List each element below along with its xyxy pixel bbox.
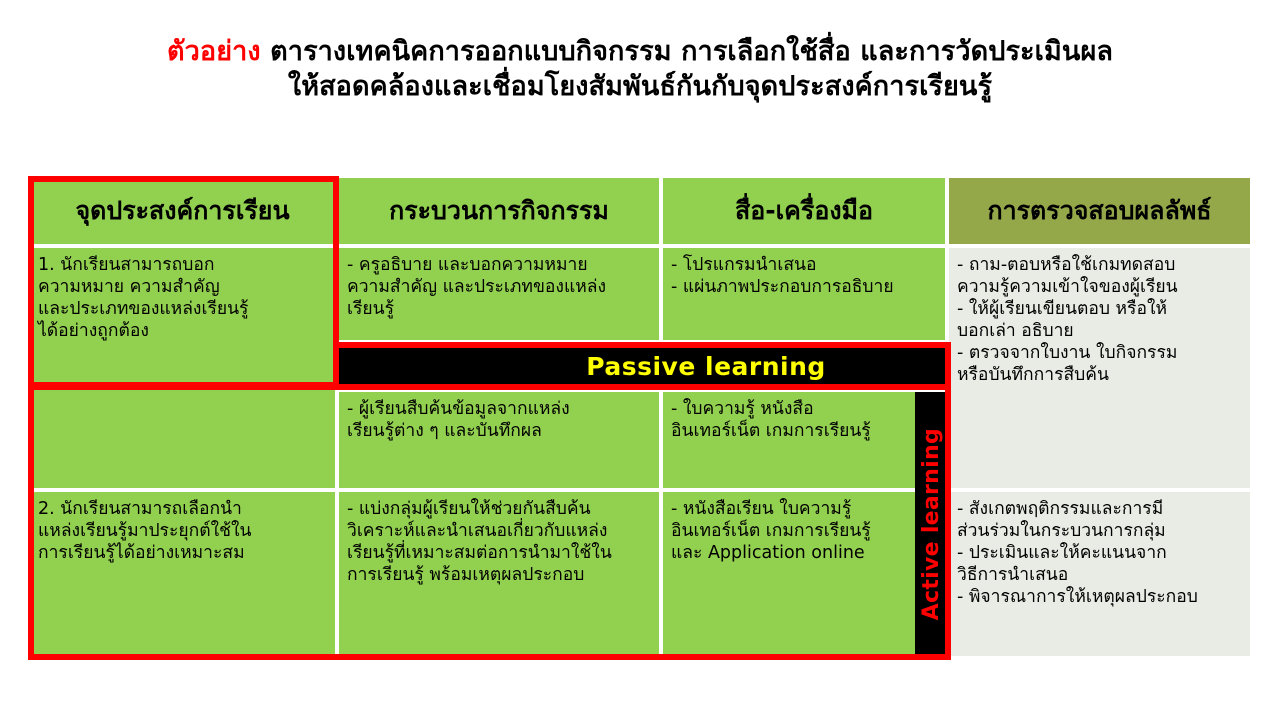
objective-1-text: 1. นักเรียนสามารถบอก ความหมาย ความสำคัญ … <box>38 254 327 342</box>
table-header-objective: จุดประสงค์การเรียน <box>30 178 335 244</box>
table-cell-process-1: - ครูอธิบาย และบอกความหมาย ความสำคัญ และ… <box>339 248 659 340</box>
assessment-1-text: - ถาม-ตอบหรือใช้เกมทดสอบ ความรู้ความเข้า… <box>957 254 1242 386</box>
title-line-1: ตัวอย่าง ตารางเทคนิคการออกแบบกิจกรรม การ… <box>0 34 1280 69</box>
title-line-1-rest: ตารางเทคนิคการออกแบบกิจกรรม การเลือกใช้ส… <box>261 36 1113 67</box>
media-1-text: - โปรแกรมนำเสนอ - แผ่นภาพประกอบการอธิบาย <box>671 254 937 298</box>
table-grid: จุดประสงค์การเรียน กระบวนการกิจกรรม สื่อ… <box>30 178 1250 656</box>
passive-learning-banner: Passive learning <box>335 344 947 388</box>
media-2-text: - ใบความรู้ หนังสือ อินเทอร์เน็ต เกมการเ… <box>671 398 937 442</box>
process-1-text: - ครูอธิบาย และบอกความหมาย ความสำคัญ และ… <box>347 254 651 320</box>
table-header-assessment: การตรวจสอบผลลัพธ์ <box>949 178 1250 244</box>
table-cell-media-2: - ใบความรู้ หนังสือ อินเทอร์เน็ต เกมการเ… <box>663 392 945 488</box>
title-line-2: ให้สอดคล้องและเชื่อมโยงสัมพันธ์กันกับจุด… <box>0 69 1280 104</box>
table-header-media: สื่อ-เครื่องมือ <box>663 178 945 244</box>
page-title: ตัวอย่าง ตารางเทคนิคการออกแบบกิจกรรม การ… <box>0 34 1280 104</box>
table-cell-objective-1: 1. นักเรียนสามารถบอก ความหมาย ความสำคัญ … <box>30 248 335 488</box>
table-cell-assessment-2: - สังเกตพฤติกรรมและการมี ส่วนร่วมในกระบว… <box>949 492 1250 656</box>
assessment-2-text: - สังเกตพฤติกรรมและการมี ส่วนร่วมในกระบว… <box>957 498 1242 608</box>
media-3-text: - หนังสือเรียน ใบความรู้ อินเทอร์เน็ต เก… <box>671 498 937 564</box>
process-3-text: - แบ่งกลุ่มผู้เรียนให้ช่วยกันสืบค้น วิเค… <box>347 498 651 586</box>
technique-design-table: จุดประสงค์การเรียน กระบวนการกิจกรรม สื่อ… <box>30 178 1250 656</box>
active-learning-label: Active learning <box>919 428 944 620</box>
table-cell-process-2: - ผู้เรียนสืบค้นข้อมูลจากแหล่ง เรียนรู้ต… <box>339 392 659 488</box>
table-cell-media-1: - โปรแกรมนำเสนอ - แผ่นภาพประกอบการอธิบาย <box>663 248 945 340</box>
table-header-process: กระบวนการกิจกรรม <box>339 178 659 244</box>
objective-2-text: 2. นักเรียนสามารถเลือกนำ แหล่งเรียนรู้มา… <box>38 498 327 564</box>
table-cell-assessment-1: - ถาม-ตอบหรือใช้เกมทดสอบ ความรู้ความเข้า… <box>949 248 1250 488</box>
active-learning-banner: Active learning <box>915 392 947 656</box>
table-cell-media-3: - หนังสือเรียน ใบความรู้ อินเทอร์เน็ต เก… <box>663 492 945 656</box>
title-highlight-word: ตัวอย่าง <box>167 36 261 67</box>
process-2-text: - ผู้เรียนสืบค้นข้อมูลจากแหล่ง เรียนรู้ต… <box>347 398 651 442</box>
table-cell-objective-2: 2. นักเรียนสามารถเลือกนำ แหล่งเรียนรู้มา… <box>30 492 335 656</box>
passive-learning-label: Passive learning <box>586 352 826 381</box>
table-cell-process-3: - แบ่งกลุ่มผู้เรียนให้ช่วยกันสืบค้น วิเค… <box>339 492 659 656</box>
